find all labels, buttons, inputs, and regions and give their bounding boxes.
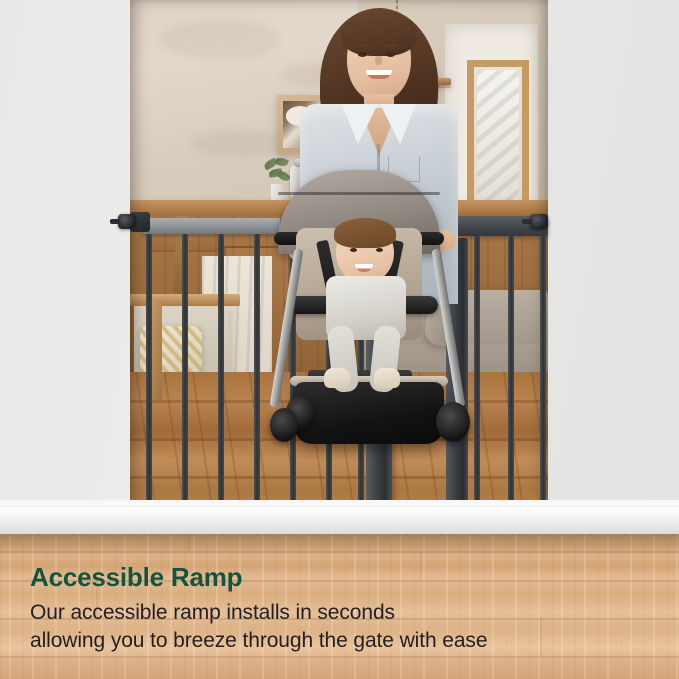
caption-body-line-1: Our accessible ramp installs in seconds	[30, 599, 650, 627]
caption-block: Accessible Ramp Our accessible ramp inst…	[30, 563, 650, 655]
baby	[306, 222, 426, 392]
baby-shoe-left	[324, 368, 350, 388]
baby-hair	[334, 218, 396, 248]
caption-body-line-2: allowing you to breeze through the gate …	[30, 627, 650, 655]
floor-contact-shadow	[0, 534, 679, 558]
product-image: Accessible Ramp Our accessible ramp inst…	[0, 0, 679, 679]
gate-tension-knob-top-right[interactable]	[530, 214, 548, 229]
stroller-wheel-front-right	[270, 408, 298, 442]
gate-tension-knob-top-left[interactable]	[118, 214, 136, 229]
stroller-wheel-rear-right	[436, 402, 470, 442]
gate-extension-panel	[466, 236, 548, 532]
baby-shoe-right	[374, 368, 400, 388]
caption-headline: Accessible Ramp	[30, 563, 650, 592]
baseboard	[0, 500, 679, 536]
hair-top	[341, 10, 417, 56]
